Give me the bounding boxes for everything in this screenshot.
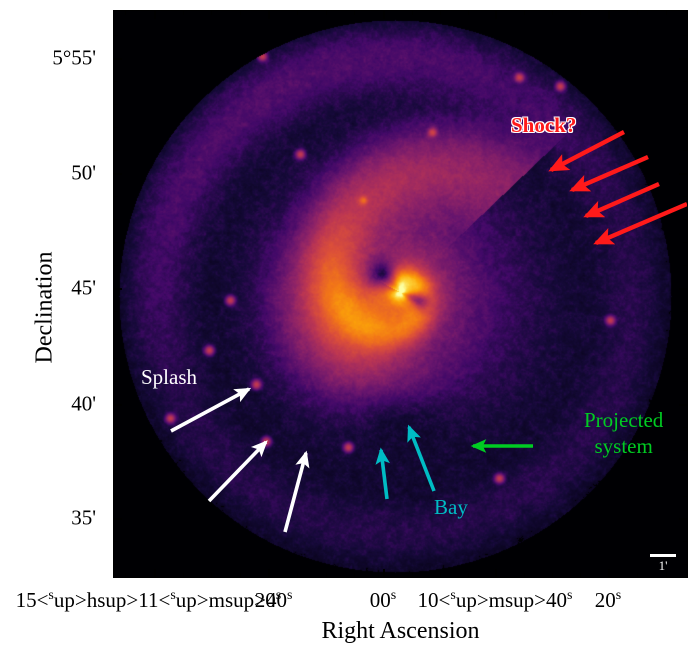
y-minor-tick-right bbox=[683, 196, 688, 197]
y-minor-tick bbox=[113, 242, 118, 243]
x-tick-label-1: 20s bbox=[255, 588, 281, 613]
y-minor-tick-right bbox=[683, 81, 688, 82]
x-minor-tick-top bbox=[468, 10, 469, 15]
x-major-tick bbox=[383, 569, 385, 578]
scalebar-label: 1' bbox=[650, 558, 676, 574]
y-minor-tick-right bbox=[683, 564, 688, 565]
x-minor-tick bbox=[637, 573, 638, 578]
x-minor-tick bbox=[666, 573, 667, 578]
y-minor-tick bbox=[113, 496, 118, 497]
y-minor-tick bbox=[113, 358, 118, 359]
y-major-tick-right bbox=[679, 288, 688, 290]
y-minor-tick bbox=[113, 127, 118, 128]
xray-surface-brightness-map bbox=[113, 10, 688, 578]
x-major-tick-top bbox=[154, 10, 156, 19]
y-minor-tick-right bbox=[683, 242, 688, 243]
x-minor-tick-top bbox=[666, 10, 667, 15]
x-minor-tick-top bbox=[552, 10, 553, 15]
y-minor-tick bbox=[113, 219, 118, 220]
x-minor-tick bbox=[297, 573, 298, 578]
y-minor-tick-right bbox=[683, 311, 688, 312]
scalebar-line bbox=[650, 554, 676, 557]
y-minor-tick-right bbox=[683, 127, 688, 128]
y-minor-tick-right bbox=[683, 219, 688, 220]
x-minor-tick bbox=[354, 573, 355, 578]
x-minor-tick-top bbox=[240, 10, 241, 15]
x-minor-tick-top bbox=[637, 10, 638, 15]
x-minor-tick-top bbox=[412, 10, 413, 15]
y-major-tick-right bbox=[679, 518, 688, 520]
y-tick-label-5d55: 5°55' bbox=[52, 46, 96, 71]
y-major-tick bbox=[113, 404, 122, 406]
x-minor-tick bbox=[211, 573, 212, 578]
x-minor-tick-top bbox=[183, 10, 184, 15]
y-minor-tick bbox=[113, 150, 118, 151]
y-minor-tick-right bbox=[683, 265, 688, 266]
y-minor-tick bbox=[113, 564, 118, 565]
y-tick-label-35: 35' bbox=[71, 506, 96, 531]
y-tick-label-50: 50' bbox=[71, 161, 96, 186]
x-minor-tick bbox=[552, 573, 553, 578]
y-major-tick bbox=[113, 173, 122, 175]
y-minor-tick bbox=[113, 541, 118, 542]
y-minor-tick-right bbox=[683, 334, 688, 335]
y-minor-tick-right bbox=[683, 541, 688, 542]
x-minor-tick-top bbox=[125, 10, 126, 15]
x-minor-tick-top bbox=[326, 10, 327, 15]
y-minor-tick bbox=[113, 81, 118, 82]
x-minor-tick bbox=[183, 573, 184, 578]
y-minor-tick bbox=[113, 196, 118, 197]
y-tick-label-45: 45' bbox=[71, 276, 96, 301]
x-tick-label-3: 10<sup>msup>40s bbox=[418, 588, 573, 613]
y-minor-tick-right bbox=[683, 496, 688, 497]
x-major-tick bbox=[268, 569, 270, 578]
x-axis-title: Right Ascension bbox=[113, 618, 688, 645]
y-minor-tick bbox=[113, 104, 118, 105]
y-minor-tick-right bbox=[683, 450, 688, 451]
y-major-tick-right bbox=[679, 404, 688, 406]
x-tick-label-2: 00s bbox=[370, 588, 396, 613]
y-tick-label-group: 5°55' 50' 45' 40' 35' bbox=[0, 0, 106, 662]
x-minor-tick-top bbox=[354, 10, 355, 15]
y-tick-label-40: 40' bbox=[71, 392, 96, 417]
y-minor-tick bbox=[113, 427, 118, 428]
x-minor-tick bbox=[412, 573, 413, 578]
y-major-tick bbox=[113, 518, 122, 520]
y-major-tick-right bbox=[679, 58, 688, 60]
y-minor-tick bbox=[113, 450, 118, 451]
y-minor-tick-right bbox=[683, 381, 688, 382]
y-minor-tick bbox=[113, 381, 118, 382]
x-minor-tick-top bbox=[211, 10, 212, 15]
y-major-tick bbox=[113, 58, 122, 60]
x-major-tick-top bbox=[495, 10, 497, 19]
x-minor-tick bbox=[580, 573, 581, 578]
x-minor-tick-top bbox=[440, 10, 441, 15]
y-major-tick-right bbox=[679, 173, 688, 175]
x-minor-tick bbox=[524, 573, 525, 578]
x-minor-tick bbox=[468, 573, 469, 578]
x-major-tick-top bbox=[383, 10, 385, 19]
x-minor-tick bbox=[240, 573, 241, 578]
sky-image-panel: Shock? Splash Bay Projected system 1' bbox=[113, 10, 688, 578]
y-minor-tick bbox=[113, 311, 118, 312]
x-tick-label-4: 20s bbox=[595, 588, 621, 613]
y-major-tick bbox=[113, 288, 122, 290]
x-minor-tick-top bbox=[297, 10, 298, 15]
x-minor-tick bbox=[326, 573, 327, 578]
y-minor-tick-right bbox=[683, 358, 688, 359]
y-minor-tick bbox=[113, 265, 118, 266]
y-minor-tick bbox=[113, 473, 118, 474]
x-major-tick-top bbox=[268, 10, 270, 19]
y-minor-tick-right bbox=[683, 35, 688, 36]
y-minor-tick-right bbox=[683, 150, 688, 151]
x-minor-tick-top bbox=[524, 10, 525, 15]
y-minor-tick-right bbox=[683, 473, 688, 474]
y-minor-tick bbox=[113, 334, 118, 335]
x-major-tick-top bbox=[608, 10, 610, 19]
y-minor-tick-right bbox=[683, 427, 688, 428]
x-minor-tick bbox=[440, 573, 441, 578]
x-major-tick bbox=[154, 569, 156, 578]
astronomy-figure: Declination 5°55' 50' 45' 40' 35' 15<sup… bbox=[0, 0, 697, 662]
x-major-tick bbox=[608, 569, 610, 578]
x-major-tick bbox=[495, 569, 497, 578]
x-minor-tick bbox=[125, 573, 126, 578]
y-minor-tick bbox=[113, 35, 118, 36]
x-minor-tick-top bbox=[580, 10, 581, 15]
y-minor-tick-right bbox=[683, 104, 688, 105]
x-tick-label-0: 15<sup>hsup>11<sup>msup>40s bbox=[16, 588, 293, 613]
